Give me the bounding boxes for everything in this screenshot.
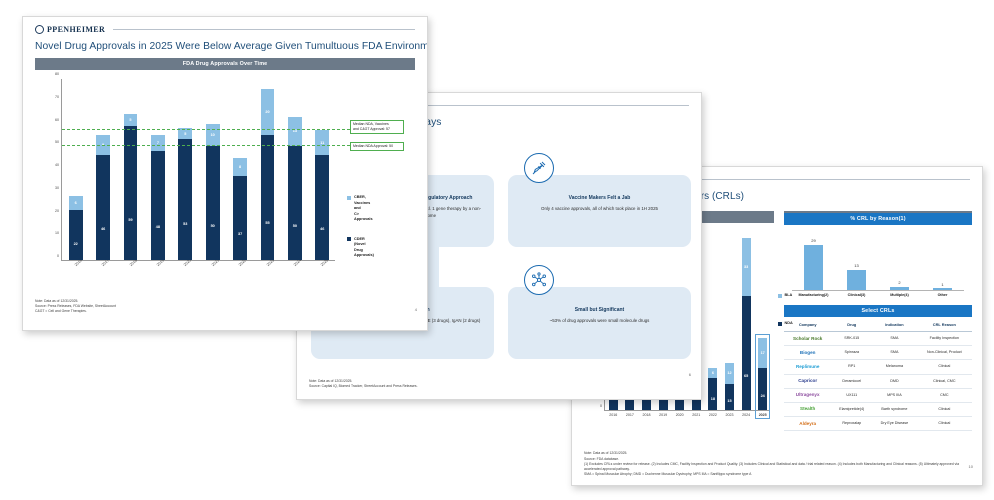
bar-value-label: 11 xyxy=(315,141,329,145)
y-axis-tick: 10 xyxy=(55,231,59,235)
y-axis-tick: 80 xyxy=(55,72,59,76)
bar-segment-cder: 53 xyxy=(178,139,192,260)
footnote-themes: Note: Data as of 12/31/2025. Source: Cap… xyxy=(309,379,639,389)
cell-indication: DMD xyxy=(872,374,917,388)
crl-segment-nda: 24 xyxy=(758,368,767,410)
bar-value-label: 10 xyxy=(206,133,220,137)
crl-x-tick-2018: 2018 xyxy=(642,413,651,417)
bar-value-label: 24 xyxy=(758,394,767,398)
bar-segment-cder: 48 xyxy=(151,151,165,260)
bar-2017[interactable]: 469 xyxy=(96,135,110,260)
crl-detail-panel: % CRL by Reason(1) 29Manufacturing(2)13C… xyxy=(784,213,972,431)
chart-pct-crl-by-reason: 29Manufacturing(2)13Clinical(3)2Multiple… xyxy=(784,233,972,305)
table-col-header: CRL Reason xyxy=(917,318,972,332)
bar-segment-cder: 46 xyxy=(315,155,329,260)
cell-drug: RP1 xyxy=(831,360,872,374)
legend-label: CDER (Novel Drug Approvals) xyxy=(354,237,374,259)
bar-2018[interactable]: 595 xyxy=(124,114,138,260)
cell-drug: Elamipretide(4) xyxy=(831,402,872,416)
header-rule xyxy=(662,179,970,180)
theme-card-4[interactable]: Small but Significant~53% of drug approv… xyxy=(508,265,691,359)
bar-value-label: 59 xyxy=(124,218,138,222)
crl-segment-bla: 12 xyxy=(725,363,734,384)
reason-bar-other[interactable]: 1Other xyxy=(933,288,951,290)
y-axis-tick: 40 xyxy=(55,163,59,167)
theme-card-heading: Vaccine Makers Felt a Jab xyxy=(518,195,681,202)
crl-bar-2023[interactable]: 1512 xyxy=(725,363,734,411)
page-number-approvals: 4 xyxy=(415,307,417,312)
brand-header-approvals: PPENHEIMER xyxy=(23,17,427,34)
page-number-themes: 6 xyxy=(689,372,691,377)
cell-company: Biogen xyxy=(784,346,831,360)
table-row[interactable]: CapricorDeramiocelDMDClinical, CMC xyxy=(784,374,972,388)
approvals-plot-area: 0102030405060708020162262017469201859520… xyxy=(61,79,335,261)
bar-value-label: 22 xyxy=(69,242,83,246)
cell-indication: SMA xyxy=(872,332,917,346)
y-axis-tick: 20 xyxy=(55,209,59,213)
bar-segment-cber: 10 xyxy=(206,124,220,147)
theme-card-heading: Small but Significant xyxy=(518,307,681,314)
bar-value-label: 29 xyxy=(804,238,822,243)
bar-2024[interactable]: 5013 xyxy=(288,117,302,260)
bar-value-label: 53 xyxy=(178,222,192,226)
bar-segment-cber: 13 xyxy=(288,117,302,147)
bar-category-label: Manufacturing(2) xyxy=(795,293,831,297)
bar-segment-cber: 8 xyxy=(233,158,247,176)
select-crls-table: CompanyDrugIndicationCRL Reason Scholar … xyxy=(784,318,972,431)
header-rule xyxy=(113,29,415,30)
crl-x-tick-2016: 2016 xyxy=(609,413,618,417)
bar-value-label: 6 xyxy=(708,371,717,375)
bar-value-label: 12 xyxy=(725,371,734,375)
bar-segment-cder: 22 xyxy=(69,210,83,260)
cell-drug: UX111 xyxy=(831,388,872,402)
bar-segment-cder: 55 xyxy=(261,135,275,260)
bar-category-label: Multiple(4) xyxy=(881,293,917,297)
bar-2021[interactable]: 5010 xyxy=(206,124,220,261)
y-axis-tick: 0 xyxy=(57,254,59,258)
bar-value-label: 65 xyxy=(742,374,751,378)
bar-2023[interactable]: 5520 xyxy=(261,89,275,260)
molecule-icon xyxy=(524,265,554,295)
table-row[interactable]: UltragenyxUX111MPS IIIACMC xyxy=(784,388,972,402)
reason-plot-area: 29Manufacturing(2)13Clinical(3)2Multiple… xyxy=(792,241,964,291)
crl-x-tick-2017: 2017 xyxy=(625,413,634,417)
table-row[interactable]: AldeyraReproxalapDry Eye DiseaseClinical xyxy=(784,417,972,431)
cell-company: Scholar Rock xyxy=(784,332,831,346)
cell-indication: SMA xyxy=(872,346,917,360)
bar-2025[interactable]: 4611 xyxy=(315,130,329,260)
y-axis-tick: 30 xyxy=(55,186,59,190)
crl-segment-bla: 17 xyxy=(758,338,767,368)
theme-card-text: ~53% of drug approvals were small molecu… xyxy=(518,318,681,325)
bar-value-label: 50 xyxy=(206,224,220,228)
bar-segment-cder: 50 xyxy=(206,146,220,260)
footnote-approvals: Note: Data as of 12/31/2025. Source: Pre… xyxy=(35,299,335,314)
crl-x-tick-2020: 2020 xyxy=(675,413,684,417)
slide-novel-drug-approvals[interactable]: PPENHEIMER Novel Drug Approvals in 2025 … xyxy=(22,16,428,331)
theme-card-text: Only 4 vaccine approvals, all of which t… xyxy=(518,206,681,213)
legend-item[interactable]: CBER, Vaccines and C> Approvals xyxy=(347,195,374,223)
bar-value-label: 7 xyxy=(151,141,165,145)
bar-value-label: 17 xyxy=(758,351,767,355)
bar-2016[interactable]: 226 xyxy=(69,196,83,260)
header-rule xyxy=(387,105,689,106)
page-title-approvals: Novel Drug Approvals in 2025 Were Below … xyxy=(23,34,427,52)
bar-value-label: 50 xyxy=(288,224,302,228)
theme-card-body: Vaccine Makers Felt a JabOnly 4 vaccine … xyxy=(508,175,691,247)
bar-value-label: 8 xyxy=(233,165,247,169)
bar-value-label: 6 xyxy=(69,201,83,205)
bar-segment-cder: 37 xyxy=(233,176,247,260)
bar-category-label: Clinical(3) xyxy=(838,293,874,297)
legend-swatch-icon xyxy=(778,294,782,298)
cell-drug: Reproxalap xyxy=(831,417,872,431)
bar-segment-cber: 6 xyxy=(69,196,83,210)
table-row[interactable]: BiogenSpinrazaSMANon-Clinical, Product xyxy=(784,346,972,360)
bar-value-label: 48 xyxy=(151,225,165,229)
y-axis-tick: 70 xyxy=(55,95,59,99)
table-body: Scholar RockSRK-015SMAFacility Inspectio… xyxy=(784,332,972,431)
bar-value-label: 1 xyxy=(933,282,951,287)
median-reference-line xyxy=(62,145,385,146)
legend-swatch-icon xyxy=(347,237,351,241)
bar-2022[interactable]: 378 xyxy=(233,158,247,260)
table-row[interactable]: Scholar RockSRK-015SMAFacility Inspectio… xyxy=(784,332,972,346)
bar-value-label: 5 xyxy=(124,118,138,122)
legend-label: CBER, Vaccines and C> Approvals xyxy=(354,195,374,223)
section-bar-fda-approvals: FDA Drug Approvals Over Time xyxy=(35,58,415,70)
section-bar-select-crls: Select CRLs xyxy=(784,305,972,317)
bar-value-label: 33 xyxy=(742,265,751,269)
cell-crl-reason: CMC xyxy=(917,388,972,402)
bar-segment-cber: 11 xyxy=(315,130,329,155)
table-row[interactable]: StealthElamipretide(4)Barth syndromeClin… xyxy=(784,402,972,416)
cell-company: Ultragenyx xyxy=(784,388,831,402)
table-col-header: Indication xyxy=(872,318,917,332)
cell-drug: SRK-015 xyxy=(831,332,872,346)
cell-crl-reason: Facility Inspection xyxy=(917,332,972,346)
crl-segment-nda: 18 xyxy=(708,378,717,410)
bar-value-label: 5 xyxy=(178,132,192,136)
cell-crl-reason: Clinical, CMC xyxy=(917,374,972,388)
bar-value-label: 46 xyxy=(315,227,329,231)
cell-indication: Melanoma xyxy=(872,360,917,374)
cell-crl-reason: Clinical xyxy=(917,360,972,374)
page-number-crl: 10 xyxy=(969,464,973,469)
median-reference-line xyxy=(62,129,385,130)
cell-company: Stealth xyxy=(784,402,831,416)
theme-card-2[interactable]: Vaccine Makers Felt a JabOnly 4 vaccine … xyxy=(508,153,691,247)
legend-item[interactable]: CDER (Novel Drug Approvals) xyxy=(347,237,374,259)
bar-segment-cder: 46 xyxy=(96,155,110,260)
footnote-crl: Note: Data as of 12/31/2025. Source: FDA… xyxy=(584,451,970,477)
table-header-row: CompanyDrugIndicationCRL Reason xyxy=(784,318,972,332)
bar-value-label: 46 xyxy=(96,227,110,231)
cell-indication: MPS IIIA xyxy=(872,388,917,402)
crl-x-tick-2021: 2021 xyxy=(692,413,701,417)
syringe-icon xyxy=(524,153,554,183)
cell-company: Capricor xyxy=(784,374,831,388)
crl-bar-2024[interactable]: 6533 xyxy=(742,238,751,410)
median-label: Median NDA Approval: 50 xyxy=(350,142,404,152)
crl-x-tick-2019: 2019 xyxy=(659,413,668,417)
bar-value-label: 13 xyxy=(847,263,865,268)
section-bar-pct-crl-by-reason: % CRL by Reason(1) xyxy=(784,213,972,225)
crl-segment-nda: 15 xyxy=(725,384,734,410)
crl-segment-bla: 33 xyxy=(742,238,751,296)
crl-bar-2025[interactable]: 2417 xyxy=(758,338,767,410)
cell-company: Aldeyra xyxy=(784,417,831,431)
bar-segment-cber: 5 xyxy=(124,114,138,125)
y-axis-tick: 0 xyxy=(600,404,602,408)
bar-value-label: 55 xyxy=(261,221,275,225)
table-col-header: Company xyxy=(784,318,831,332)
chart-fda-drug-approvals: 0102030405060708020162262017469201859520… xyxy=(35,75,365,293)
cell-company: Replimune xyxy=(784,360,831,374)
cell-indication: Dry Eye Disease xyxy=(872,417,917,431)
reason-bar-manufacturing[interactable]: 29Manufacturing(2) xyxy=(804,245,822,290)
brand-wordmark: PPENHEIMER xyxy=(47,25,105,34)
crl-bar-2022[interactable]: 186 xyxy=(708,368,717,410)
legend-swatch-icon xyxy=(778,322,782,326)
cell-drug: Spinraza xyxy=(831,346,872,360)
cell-crl-reason: Clinical xyxy=(917,417,972,431)
bar-value-label: 37 xyxy=(233,232,247,236)
median-label: Median NDA, Vaccines and C&GT Approval: … xyxy=(350,120,404,134)
presentation-canvas: PPENHEIMER Complete Response Letters (CR… xyxy=(0,0,994,500)
cell-indication: Barth syndrome xyxy=(872,402,917,416)
crl-x-tick-2025: 2025 xyxy=(758,413,767,417)
reason-bar-multiple[interactable]: 2Multiple(4) xyxy=(890,287,908,290)
crl-segment-nda: 65 xyxy=(742,296,751,410)
crl-x-tick-2024: 2024 xyxy=(742,413,751,417)
y-axis-tick: 60 xyxy=(55,118,59,122)
bar-value-label: 2 xyxy=(890,280,908,285)
table-row[interactable]: ReplimuneRP1MelanomaClinical xyxy=(784,360,972,374)
cell-drug: Deramiocel xyxy=(831,374,872,388)
cell-crl-reason: Non-Clinical, Product xyxy=(917,346,972,360)
crl-x-tick-2022: 2022 xyxy=(708,413,717,417)
bar-value-label: 20 xyxy=(261,110,275,114)
bar-segment-cber: 7 xyxy=(151,135,165,151)
reason-bar-clinical[interactable]: 13Clinical(3) xyxy=(847,270,865,290)
cell-crl-reason: Clinical xyxy=(917,402,972,416)
oppenheimer-logo-icon xyxy=(35,25,44,34)
table-col-header: Drug xyxy=(831,318,872,332)
bar-value-label: 15 xyxy=(725,399,734,403)
legend-approvals: CBER, Vaccines and C> ApprovalsCDER (Nov… xyxy=(347,195,374,273)
bar-2020[interactable]: 535 xyxy=(178,128,192,260)
bar-segment-cber: 20 xyxy=(261,89,275,135)
legend-swatch-icon xyxy=(347,196,351,200)
crl-x-tick-2023: 2023 xyxy=(725,413,734,417)
theme-card-body: Small but Significant~53% of drug approv… xyxy=(508,287,691,359)
bar-category-label: Other xyxy=(924,293,960,297)
bar-2019[interactable]: 487 xyxy=(151,135,165,260)
crl-segment-bla: 6 xyxy=(708,368,717,379)
bar-segment-cder: 50 xyxy=(288,146,302,260)
bar-value-label: 18 xyxy=(708,397,717,401)
y-axis-tick: 50 xyxy=(55,140,59,144)
